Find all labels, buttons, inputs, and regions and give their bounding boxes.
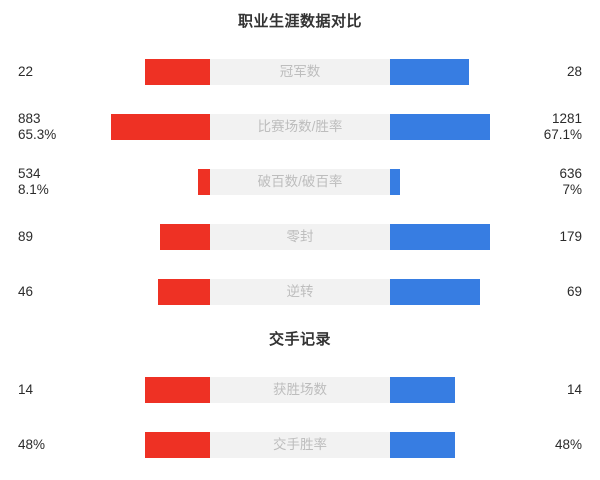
bar-area: 破百数/破百率 — [0, 160, 600, 204]
stat-row: 88365.3%128167.1%比赛场数/胜率 — [0, 105, 600, 149]
stat-row: 2228冠军数 — [0, 50, 600, 94]
stat-row: 48%48%交手胜率 — [0, 423, 600, 467]
bar-area: 交手胜率 — [0, 423, 600, 467]
bar-area: 零封 — [0, 215, 600, 259]
stat-row: 4669逆转 — [0, 270, 600, 314]
right-bar — [390, 169, 400, 195]
stat-row: 5348.1%6367%破百数/破百率 — [0, 160, 600, 204]
comparison-chart-canvas: 职业生涯数据对比2228冠军数88365.3%128167.1%比赛场数/胜率5… — [0, 0, 600, 480]
section-title-1: 职业生涯数据对比 — [0, 10, 600, 31]
right-bar — [390, 432, 455, 458]
stat-row: 1414获胜场数 — [0, 368, 600, 412]
stat-row: 89179零封 — [0, 215, 600, 259]
bar-area: 逆转 — [0, 270, 600, 314]
section-title-2: 交手记录 — [0, 328, 600, 349]
bar-track — [198, 169, 400, 195]
left-bar — [160, 224, 210, 250]
left-bar — [145, 59, 210, 85]
right-bar — [390, 279, 480, 305]
left-bar — [158, 279, 210, 305]
left-bar — [111, 114, 210, 140]
bar-area: 比赛场数/胜率 — [0, 105, 600, 149]
right-bar — [390, 114, 490, 140]
left-bar — [145, 377, 210, 403]
left-bar — [145, 432, 210, 458]
right-bar — [390, 377, 455, 403]
right-bar — [390, 224, 490, 250]
bar-area: 冠军数 — [0, 50, 600, 94]
bar-area: 获胜场数 — [0, 368, 600, 412]
left-bar — [198, 169, 210, 195]
right-bar — [390, 59, 469, 85]
